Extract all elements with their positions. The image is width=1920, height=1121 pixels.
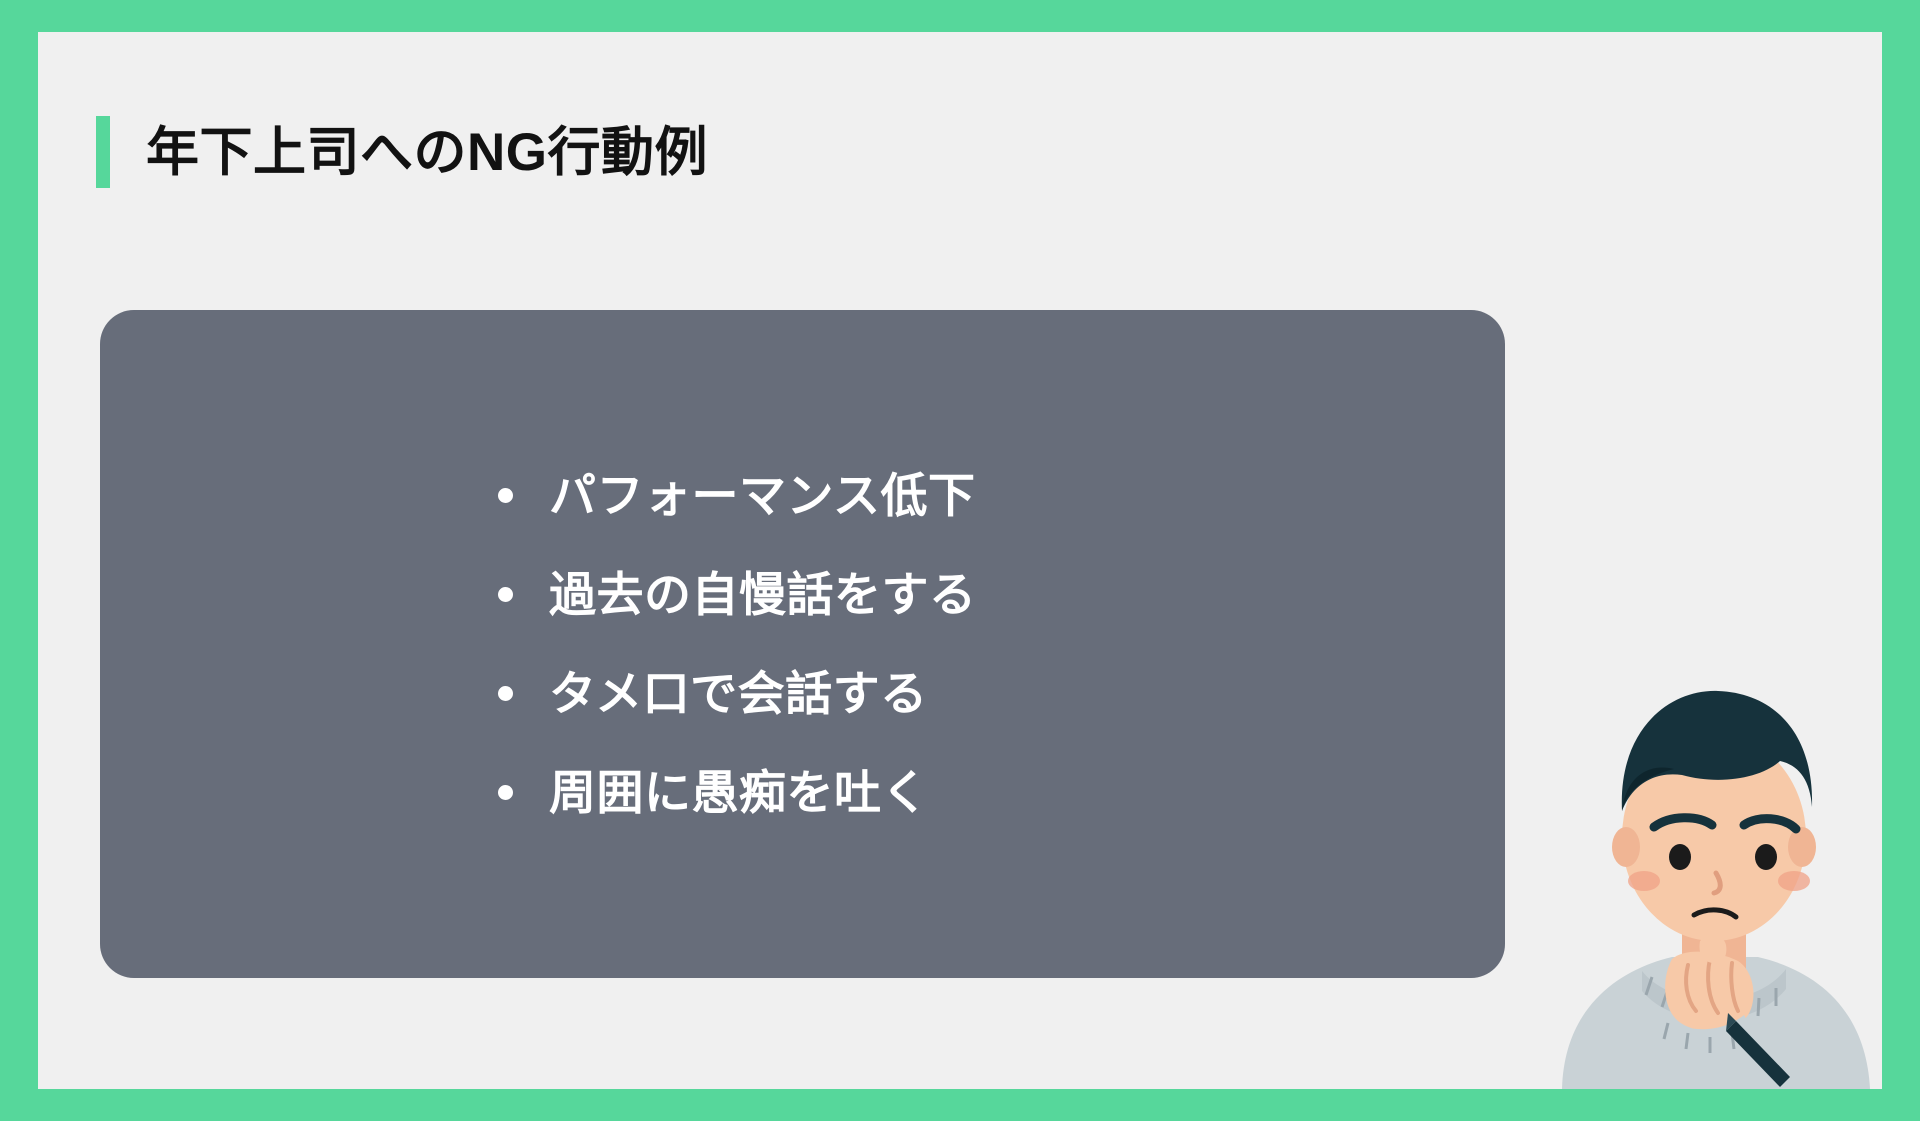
thinking-man-illustration <box>1522 659 1882 1089</box>
cuff-stitching <box>1664 1023 1734 1053</box>
title-accent-bar <box>96 116 110 188</box>
page-title-row: 年下上司へのNG行動例 <box>96 112 708 192</box>
pen-shape <box>1726 1021 1790 1087</box>
sweater-shape <box>1562 957 1870 1089</box>
eye-right <box>1755 844 1777 870</box>
list-item: タメ口で会話する <box>498 659 928 729</box>
list-item-label: タメ口で会話する <box>549 670 928 717</box>
collar-stitching <box>1646 977 1776 1024</box>
hair-highlight <box>1622 768 1674 811</box>
blush-right <box>1778 871 1810 891</box>
list-item-label: 過去の自慢話をする <box>549 571 977 618</box>
ear-shape <box>1788 827 1816 867</box>
bullet-dot-icon <box>498 488 513 503</box>
list-item: 周囲に愚痴を吐く <box>498 758 929 828</box>
list-item: 過去の自慢話をする <box>498 560 977 630</box>
face-shape <box>1622 733 1806 941</box>
finger-lines <box>1686 959 1738 1013</box>
index-finger-shape <box>1700 935 1727 963</box>
neck-shape <box>1682 911 1746 981</box>
page-title: 年下上司へのNG行動例 <box>146 126 708 179</box>
eye-left <box>1669 844 1691 870</box>
ear-shape <box>1612 827 1640 867</box>
nose-shape <box>1714 873 1720 893</box>
sleeve-shape <box>1655 1015 1752 1089</box>
hair-shape <box>1622 691 1812 811</box>
bullet-dot-icon <box>498 785 513 800</box>
slide-root: 年下上司へのNG行動例 パフォーマンス低下 過去の自慢話をする タメ口で会話する <box>0 0 1920 1121</box>
slide-canvas: 年下上司へのNG行動例 パフォーマンス低下 過去の自慢話をする タメ口で会話する <box>38 32 1882 1089</box>
collar-shape <box>1642 969 1786 1020</box>
hand-shape <box>1665 952 1753 1031</box>
list-item: パフォーマンス低下 <box>498 461 976 531</box>
bullet-dot-icon <box>498 686 513 701</box>
blush-left <box>1628 871 1660 891</box>
ng-behavior-list: パフォーマンス低下 過去の自慢話をする タメ口で会話する 周囲に愚痴を吐く <box>100 310 1505 978</box>
eyebrow-right <box>1744 819 1796 829</box>
eyebrow-left <box>1654 818 1712 827</box>
list-item-label: パフォーマンス低下 <box>549 472 976 519</box>
list-item-label: 周囲に愚痴を吐く <box>549 769 929 816</box>
bullet-dot-icon <box>498 587 513 602</box>
pen-tip <box>1726 1013 1736 1031</box>
content-card: パフォーマンス低下 過去の自慢話をする タメ口で会話する 周囲に愚痴を吐く <box>100 310 1505 978</box>
mouth-shape <box>1694 910 1736 917</box>
